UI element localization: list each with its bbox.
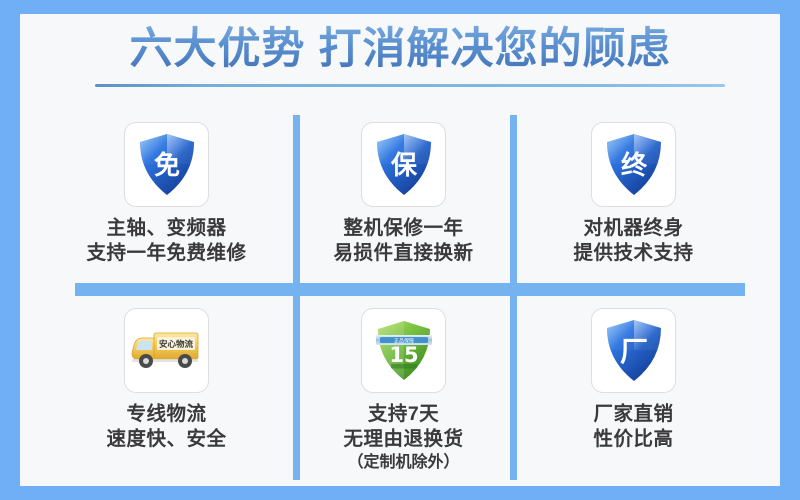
feature-line-2: 提供技术支持: [507, 241, 760, 266]
feature-cell-whole-machine-warranty: 保 整机保修一年 易损件直接换新: [277, 114, 530, 289]
header: 六大优势 打消解决您的顾虑: [20, 20, 780, 78]
icon-container: 保: [361, 122, 446, 207]
shield-glyph-text: 免: [153, 150, 179, 181]
feature-line-1: 对机器终身: [507, 216, 760, 241]
feature-line-1: 厂家直销: [507, 402, 760, 427]
feature-cell-lifetime-support: 终 对机器终身 提供技术支持: [507, 114, 760, 289]
feature-line-2: 性价比高: [507, 427, 760, 452]
shield-zhong-icon: 终: [603, 132, 665, 198]
shield-bao-icon: 保: [373, 132, 435, 198]
icon-container: 安心物流: [124, 308, 209, 393]
feature-text: 主轴、变频器 支持一年免费维修: [40, 216, 293, 266]
feature-line-2: 支持一年免费维修: [40, 241, 293, 266]
title-underline: [95, 84, 725, 87]
icon-container: 终: [591, 122, 676, 207]
feature-line-1: 整机保修一年: [277, 216, 530, 241]
feature-text: 厂家直销 性价比高: [507, 402, 760, 452]
delivery-truck-icon: 安心物流: [130, 326, 204, 376]
feature-note: （定制机除外）: [277, 452, 530, 474]
feature-line-1: 主轴、变频器: [40, 216, 293, 241]
shield-15-icon: 正品保障 15: [373, 318, 435, 384]
feature-grid: 免 主轴、变频器 支持一年免费维修 保: [20, 114, 780, 486]
feature-text: 整机保修一年 易损件直接换新: [277, 216, 530, 266]
promo-banner: 六大优势 打消解决您的顾虑: [0, 0, 800, 500]
feature-text: 对机器终身 提供技术支持: [507, 216, 760, 266]
content-panel: 六大优势 打消解决您的顾虑: [20, 14, 780, 486]
shield-glyph-text: 保: [389, 151, 417, 181]
feature-cell-seven-day-returns: 正品保障 15 支持7天 无理由退换货 （定制机除外）: [277, 304, 530, 486]
feature-line-1: 专线物流: [40, 402, 293, 427]
feature-text: 专线物流 速度快、安全: [40, 402, 293, 452]
shield-glyph-text: 厂: [619, 335, 647, 368]
feature-cell-factory-direct: 厂 厂家直销 性价比高: [507, 304, 760, 486]
icon-container: 厂: [591, 308, 676, 393]
icon-container: 免: [124, 122, 209, 207]
page-title: 六大优势 打消解决您的顾虑: [20, 20, 780, 78]
icon-container: 正品保障 15: [361, 308, 446, 393]
feature-line-2: 无理由退换货: [277, 427, 530, 452]
feature-text: 支持7天 无理由退换货 （定制机除外）: [277, 402, 530, 474]
feature-cell-dedicated-logistics: 安心物流 专线物流 速度快、安全: [40, 304, 293, 486]
feature-line-2: 速度快、安全: [40, 427, 293, 452]
shield-glyph-text: 终: [620, 150, 647, 181]
feature-cell-warranty-spindle: 免 主轴、变频器 支持一年免费维修: [40, 114, 293, 289]
shield-mian-icon: 免: [136, 132, 198, 198]
shield-glyph-text: 15: [389, 343, 418, 367]
feature-line-2: 易损件直接换新: [277, 241, 530, 266]
shield-chang-icon: 厂: [603, 318, 665, 384]
truck-side-text: 安心物流: [158, 339, 193, 350]
feature-line-1: 支持7天: [277, 402, 530, 427]
